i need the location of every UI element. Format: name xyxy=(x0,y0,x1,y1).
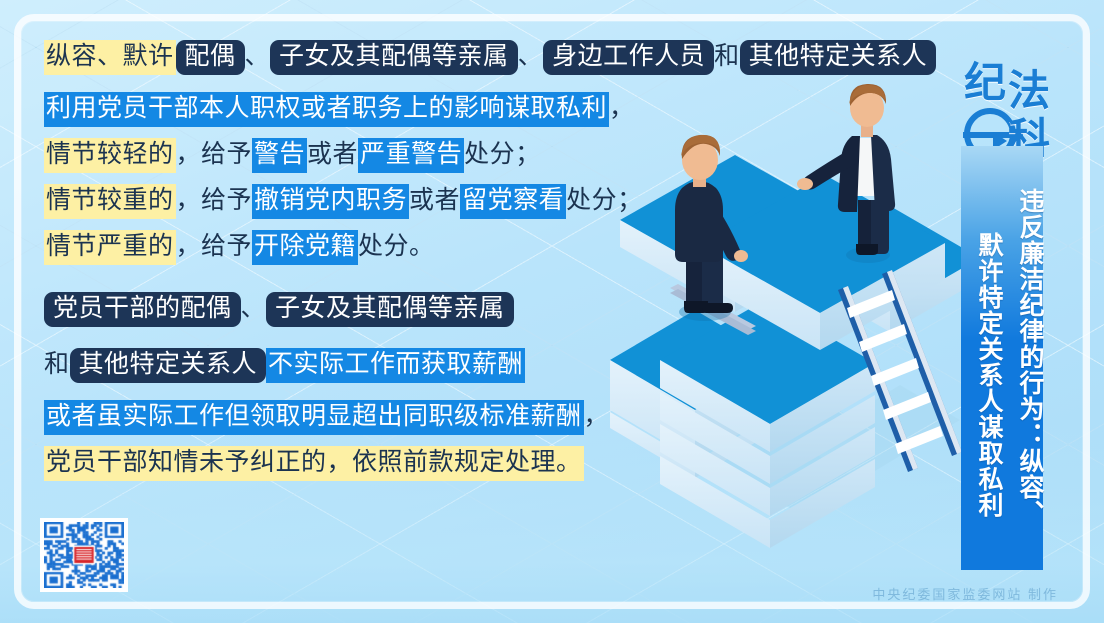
text: ，给予 xyxy=(176,141,253,168)
highlight-blue: 不实际工作而获取薪酬 xyxy=(266,348,525,383)
highlight-blue: 严重警告 xyxy=(358,138,464,173)
copy-line-3: 情节较轻的，给予警告或者严重警告处分； xyxy=(44,142,664,167)
highlight-blue: 撤销党内职务 xyxy=(252,184,409,219)
punct: ， xyxy=(584,403,610,430)
text: 或者 xyxy=(409,187,460,214)
punct: 、 xyxy=(245,43,271,70)
punct: 、 xyxy=(241,295,267,322)
logo-char-fa: 法 xyxy=(1008,70,1050,112)
body-copy: 纵容、默许配偶、子女及其配偶等亲属、身边工作人员和其他特定关系人 利用党员干部本… xyxy=(44,40,664,496)
copy-line-7: 和其他特定关系人不实际工作而获取薪酬 xyxy=(44,348,664,383)
copy-line-6: 党员干部的配偶、子女及其配偶等亲属 xyxy=(44,292,664,327)
qr-code[interactable] xyxy=(40,518,128,592)
copy-line-2: 利用党员干部本人职权或者职务上的影响谋取私利， xyxy=(44,96,664,121)
pill-qita2: 其他特定关系人 xyxy=(70,348,267,383)
text: 或者 xyxy=(307,141,358,168)
conj: 和 xyxy=(44,351,70,378)
text: 处分。 xyxy=(358,233,435,260)
highlight-blue: 开除党籍 xyxy=(252,230,358,265)
text: 处分； xyxy=(464,141,541,168)
highlight-yellow: 情节较轻的 xyxy=(44,138,176,173)
highlight-yellow: 纵容、默许 xyxy=(44,40,176,75)
infographic-canvas: 纵容、默许配偶、子女及其配偶等亲属、身边工作人员和其他特定关系人 利用党员干部本… xyxy=(0,0,1104,623)
qr-code-canvas xyxy=(44,522,124,588)
text: ，给予 xyxy=(176,233,253,260)
highlight-blue: 留党察看 xyxy=(460,184,566,219)
punct: ， xyxy=(609,95,635,122)
text: ，给予 xyxy=(176,187,253,214)
conj: 和 xyxy=(714,43,740,70)
copy-line-5: 情节严重的，给予开除党籍处分。 xyxy=(44,234,664,259)
copy-line-4: 情节较重的，给予撤销党内职务或者留党察看处分； xyxy=(44,188,664,213)
pill-shenbian: 身边工作人员 xyxy=(543,40,714,75)
banner-column-sub: 默许特定关系人谋取私利 xyxy=(961,188,1002,570)
highlight-yellow: 情节较重的 xyxy=(44,184,176,219)
punct: 、 xyxy=(518,43,544,70)
pill-zinv2: 子女及其配偶等亲属 xyxy=(266,292,514,327)
pill-peiou: 配偶 xyxy=(176,40,245,75)
vertical-title-banner: 违反廉洁纪律的行为：纵容、 默许特定关系人谋取私利 xyxy=(961,146,1043,570)
copy-line-8: 或者虽实际工作但领取明显超出同职级标准薪酬， xyxy=(44,404,664,429)
pill-qita: 其他特定关系人 xyxy=(740,40,937,75)
banner-column-main: 违反廉洁纪律的行为：纵容、 xyxy=(1002,188,1043,570)
pill-zinv: 子女及其配偶等亲属 xyxy=(270,40,518,75)
copy-line-9: 党员干部知情未予纠正的，依照前款规定处理。 xyxy=(44,450,664,475)
copy-line-1: 纵容、默许配偶、子女及其配偶等亲属、身边工作人员和其他特定关系人 xyxy=(44,40,664,75)
highlight-yellow: 党员干部知情未予纠正的，依照前款规定处理。 xyxy=(44,446,584,481)
highlight-yellow: 情节严重的 xyxy=(44,230,176,265)
text: 处分； xyxy=(566,187,643,214)
highlight-blue: 或者虽实际工作但领取明显超出同职级标准薪酬 xyxy=(44,400,584,435)
pill-dangyuan-peiou: 党员干部的配偶 xyxy=(44,292,241,327)
credit-text: 中央纪委国家监委网站 制作 xyxy=(872,584,1058,603)
highlight-blue: 警告 xyxy=(252,138,307,173)
logo-char-ji: 纪 xyxy=(964,62,1006,104)
highlight-blue: 利用党员干部本人职权或者职务上的影响谋取私利 xyxy=(44,92,609,127)
